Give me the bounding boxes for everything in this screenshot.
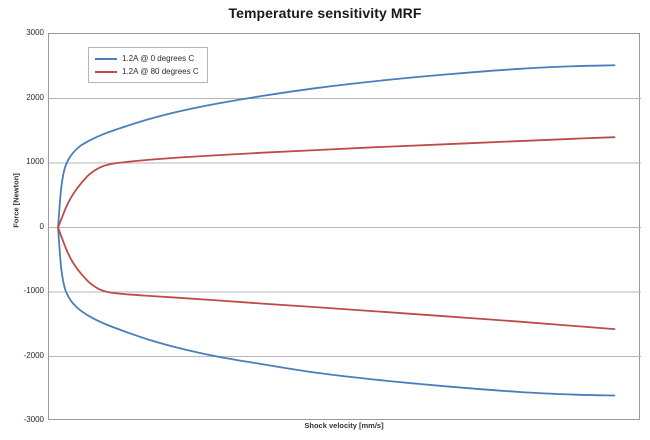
series-line-1-rebound-lower bbox=[58, 228, 614, 330]
legend-item[interactable]: 1.2A @ 0 degrees C bbox=[95, 52, 199, 65]
chart-legend: 1.2A @ 0 degrees C1.2A @ 80 degrees C bbox=[88, 47, 208, 83]
chart-title: Temperature sensitivity MRF bbox=[0, 5, 650, 21]
y-tick-label: -1000 bbox=[0, 286, 44, 295]
y-tick-label: -2000 bbox=[0, 351, 44, 360]
series-line-1-compression-upper bbox=[58, 137, 614, 227]
series-lines bbox=[58, 65, 614, 395]
x-axis-title: Shock velocity [mm/s] bbox=[48, 421, 640, 430]
plot-svg bbox=[49, 34, 641, 421]
gridlines bbox=[49, 99, 641, 357]
y-tick-label: 3000 bbox=[0, 28, 44, 37]
y-tick-label: 1000 bbox=[0, 157, 44, 166]
chart-container: Temperature sensitivity MRF Force [Newto… bbox=[0, 0, 650, 440]
y-tick-label: 0 bbox=[0, 222, 44, 231]
y-tick-label: -3000 bbox=[0, 415, 44, 424]
y-tick-label: 2000 bbox=[0, 93, 44, 102]
series-line-0-rebound-lower bbox=[58, 228, 614, 396]
series-line-0-compression-upper bbox=[58, 65, 614, 227]
legend-color-swatch-icon bbox=[95, 71, 117, 73]
plot-area bbox=[48, 33, 640, 420]
legend-item-label: 1.2A @ 80 degrees C bbox=[122, 67, 199, 76]
legend-item[interactable]: 1.2A @ 80 degrees C bbox=[95, 65, 199, 78]
legend-item-label: 1.2A @ 0 degrees C bbox=[122, 54, 194, 63]
legend-color-swatch-icon bbox=[95, 58, 117, 60]
